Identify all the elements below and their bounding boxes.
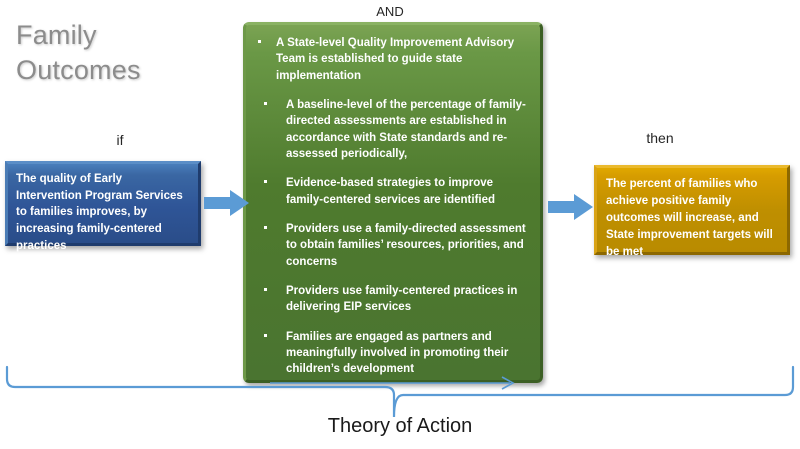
bullet-dot-icon (264, 334, 267, 337)
and-conditions-box[interactable]: A State-level Quality Improvement Adviso… (243, 22, 543, 383)
label-then: then (600, 130, 720, 146)
page-title: Family Outcomes (16, 18, 226, 88)
list-item-label: A baseline-level of the percentage of fa… (286, 99, 526, 160)
list-item: Evidence-based strategies to improve fam… (252, 175, 528, 208)
list-item-label: Providers use family-centered practices … (286, 285, 517, 313)
if-condition-box[interactable]: The quality of Early Intervention Progra… (5, 161, 201, 246)
list-item-label: Evidence-based strategies to improve fam… (286, 177, 495, 205)
list-item-label: A State-level Quality Improvement Adviso… (276, 37, 514, 82)
bullet-dot-icon (264, 180, 267, 183)
bullet-dot-icon (264, 102, 267, 105)
bullet-dot-icon (264, 226, 267, 229)
right-arrow-icon (548, 192, 594, 222)
list-item-label: Providers use a family-directed assessme… (286, 223, 526, 268)
list-item: A State-level Quality Improvement Adviso… (252, 35, 528, 84)
bottom-bracket-icon (0, 365, 800, 420)
label-if: if (60, 132, 180, 148)
theory-of-action-label: Theory of Action (250, 415, 550, 438)
right-arrow-icon (204, 188, 250, 218)
and-bullet-list: A State-level Quality Improvement Adviso… (252, 35, 528, 378)
list-item: Providers use family-centered practices … (252, 283, 528, 316)
then-outcome-box[interactable]: The percent of families who achieve posi… (594, 165, 790, 255)
list-item: A baseline-level of the percentage of fa… (252, 97, 528, 162)
label-and: AND (300, 4, 480, 19)
if-condition-text: The quality of Early Intervention Progra… (16, 173, 183, 252)
bullet-dot-icon (258, 40, 261, 43)
bullet-dot-icon (264, 288, 267, 291)
then-outcome-text: The percent of families who achieve posi… (606, 178, 773, 258)
list-item: Providers use a family-directed assessme… (252, 221, 528, 270)
